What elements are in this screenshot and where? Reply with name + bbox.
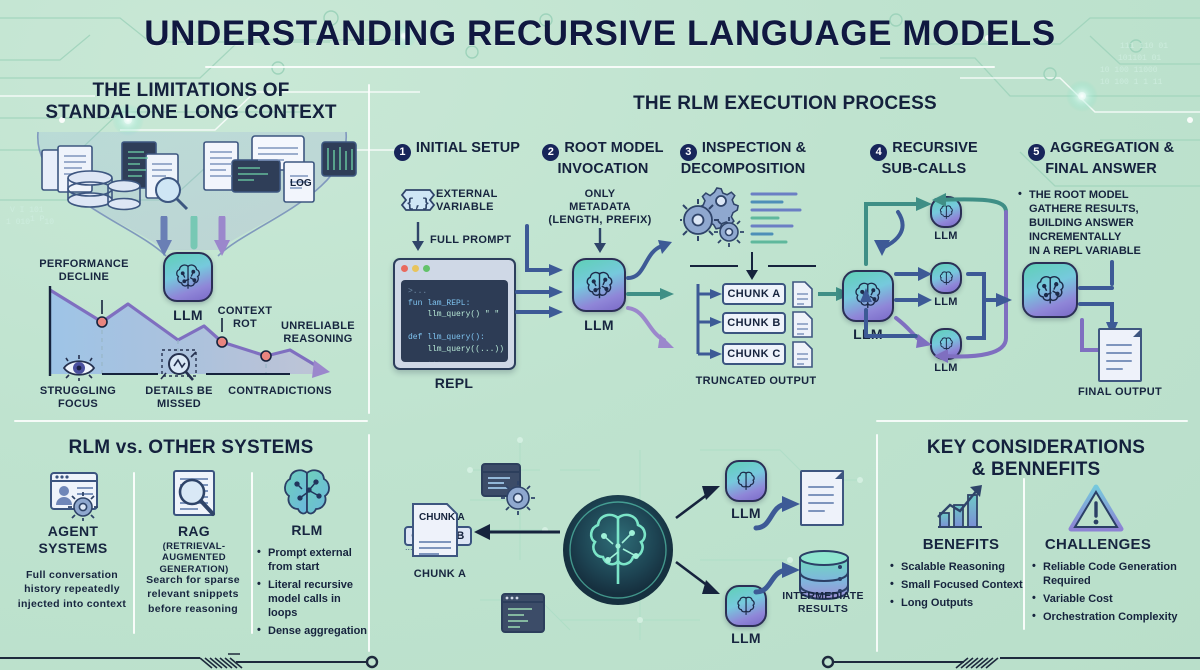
aggregation-bullet-4: INCREMENTALLY bbox=[1018, 230, 1190, 244]
svg-text:{,}: {,} bbox=[406, 196, 429, 211]
axis-label-details-missed: DETAILS BE MISSED bbox=[133, 385, 225, 411]
chunk-c-box: CHUNK C bbox=[722, 343, 786, 365]
terminal-icon-bottom bbox=[498, 590, 550, 638]
axis-label-details-missed-line1: DETAILS BE bbox=[133, 385, 225, 398]
rlm-bullet-3: Dense aggregation bbox=[257, 624, 373, 638]
window-minimize-dot[interactable] bbox=[412, 265, 419, 272]
aggregation-bullet-3: BUILDING ANSWER bbox=[1018, 216, 1190, 230]
divider-vertical-left bbox=[368, 84, 370, 414]
page-title: UNDERSTANDING RECURSIVE LANGUAGE MODELS bbox=[0, 14, 1200, 54]
code-line-1: >... bbox=[408, 287, 427, 296]
limitations-title: THE LIMITATIONS OF STANDALONE LONG CONTE… bbox=[14, 80, 368, 125]
final-output-doc-icon bbox=[1098, 328, 1142, 382]
central-brain-orb-icon bbox=[558, 490, 678, 610]
external-variable-arrow bbox=[408, 222, 428, 252]
chunk-b-box: CHUNK B bbox=[722, 312, 786, 334]
step-2-number: 2 bbox=[542, 144, 559, 161]
external-variable-label-line1: EXTERNAL bbox=[436, 188, 524, 201]
divider-vertical-right-bottom bbox=[876, 434, 878, 652]
step-1-number: 1 bbox=[394, 144, 411, 161]
intermediate-results-label-line1: INTERMEDIATE bbox=[768, 590, 878, 603]
repl-code-window[interactable]: >... fun lam_REPL: llm_query() " " def l… bbox=[393, 258, 516, 370]
step-3-heading: 3INSPECTION & DECOMPOSITION bbox=[648, 140, 838, 178]
chunk-a-box: CHUNK A bbox=[722, 283, 786, 305]
metadata-label: ONLY METADATA (LENGTH, PREFIX) bbox=[540, 188, 660, 228]
comparison-rag-body: Search for sparse relevant snippets befo… bbox=[136, 573, 250, 616]
annotation-unreliable-reasoning-line1: UNRELIABLE bbox=[272, 320, 364, 333]
external-variable-label-line2: VARIABLE bbox=[436, 201, 524, 214]
step-4-number: 4 bbox=[870, 144, 887, 161]
document-magnifier-icon bbox=[168, 468, 220, 522]
benefits-heading: BENEFITS bbox=[906, 536, 1016, 554]
final-output-label: FINAL OUTPUT bbox=[1072, 386, 1168, 399]
code-line-3: llm_query() " " bbox=[408, 310, 499, 319]
step-5-number: 5 bbox=[1028, 144, 1045, 161]
axis-label-details-missed-line2: MISSED bbox=[133, 398, 225, 411]
rag-subtitle-line1: (RETRIEVAL-AUGMENTED bbox=[136, 541, 252, 564]
axis-label-struggling-focus: STRUGGLING FOCUS bbox=[28, 385, 128, 411]
aggregation-bullet-1: THE ROOT MODEL bbox=[1018, 188, 1190, 202]
bar-chart-up-icon bbox=[932, 483, 988, 533]
challenges-item-1: Reliable Code Generation Required bbox=[1032, 560, 1192, 588]
step-5-heading-line1: AGGREGATION & bbox=[1050, 140, 1174, 156]
step-3-number: 3 bbox=[680, 144, 697, 161]
axis-label-contradictions: CONTRADICTIONS bbox=[222, 385, 338, 398]
intermediate-results-label-line2: RESULTS bbox=[768, 603, 878, 616]
svg-text:10 100 1 1 11: 10 100 1 1 11 bbox=[1100, 78, 1163, 87]
benefits-item-3: Long Outputs bbox=[890, 596, 1030, 610]
metadata-arrow bbox=[590, 228, 610, 254]
metadata-label-line3: (LENGTH, PREFIX) bbox=[540, 214, 660, 227]
challenges-list: Reliable Code Generation Required Variab… bbox=[1032, 560, 1192, 628]
brain-circuit-icon bbox=[283, 466, 331, 516]
center-output-doc-icon bbox=[800, 470, 844, 526]
considerations-title-line1: KEY CONSIDERATIONS bbox=[880, 437, 1192, 459]
center-left-arrow bbox=[472, 520, 562, 544]
annotation-unreliable-reasoning: UNRELIABLE REASONING bbox=[272, 320, 364, 346]
step-3-heading-line2: DECOMPOSITION bbox=[648, 161, 838, 178]
bottom-circuit-decoration bbox=[0, 640, 1200, 670]
log-doc-label: LOG bbox=[290, 178, 312, 189]
aggregation-bullet-5: IN A REPL VARIABLE bbox=[1018, 244, 1190, 258]
root-to-decomposition-arrows bbox=[626, 236, 684, 356]
comparison-title: RLM vs. OTHER SYSTEMS bbox=[14, 437, 368, 459]
terminal-gear-icon-top bbox=[478, 460, 538, 518]
svg-text:10 100 11000: 10 100 11000 bbox=[1100, 66, 1158, 75]
rlm-bullet-2: Literal recursive model calls in loops bbox=[257, 578, 373, 620]
comparison-agent-systems-body: Full conversation history repeatedly inj… bbox=[14, 568, 130, 611]
step-4-heading-line1: RECURSIVE bbox=[892, 140, 978, 156]
center-chunk-a-top-label: CHUNK A bbox=[419, 512, 465, 523]
code-line-2: fun lam_REPL: bbox=[408, 299, 470, 308]
comparison-divider-1 bbox=[133, 472, 135, 634]
annotation-performance-decline: PERFORMANCE DECLINE bbox=[26, 258, 142, 284]
code-line-5: def llm_query(): bbox=[408, 333, 485, 342]
annotation-context-rot-line1: CONTEXT bbox=[210, 305, 280, 318]
window-maximize-dot[interactable] bbox=[423, 265, 430, 272]
annotation-performance-decline-line2: DECLINE bbox=[26, 271, 142, 284]
external-variable-label: EXTERNAL VARIABLE bbox=[436, 188, 524, 214]
infographic-root: V I 1011 0101 P10 111 110 01101101 01 10… bbox=[0, 0, 1200, 670]
eye-icon bbox=[56, 352, 102, 382]
repl-label: REPL bbox=[404, 375, 504, 392]
benefits-item-2: Small Focused Context bbox=[890, 578, 1030, 592]
repl-window-titlebar bbox=[395, 260, 514, 276]
step-4-heading-line2: SUB-CALLS bbox=[844, 161, 1004, 178]
axis-label-struggling-focus-line1: STRUGGLING bbox=[28, 385, 128, 398]
divider-horizontal-left bbox=[14, 420, 368, 422]
title-divider bbox=[205, 66, 995, 68]
code-line-6: llm_query((...)) bbox=[408, 345, 504, 354]
comparison-rlm-name: RLM bbox=[268, 522, 346, 539]
aggregation-bullets: THE ROOT MODEL GATHERE RESULTS, BUILDING… bbox=[1018, 188, 1190, 258]
intermediate-results-label: INTERMEDIATE RESULTS bbox=[768, 590, 878, 615]
full-prompt-label: FULL PROMPT bbox=[430, 234, 520, 247]
step-4-heading: 4RECURSIVE SUB-CALLS bbox=[844, 140, 1004, 178]
external-variable-icon: {,} bbox=[400, 186, 436, 220]
step-5-heading: 5AGGREGATION & FINAL ANSWER bbox=[1008, 140, 1194, 178]
annotation-context-rot: CONTEXT ROT bbox=[210, 305, 280, 331]
metadata-label-line2: METADATA bbox=[540, 201, 660, 214]
comparison-rag-subtitle: (RETRIEVAL-AUGMENTED GENERATION) bbox=[136, 541, 252, 575]
benefits-list: Scalable Reasoning Small Focused Context… bbox=[890, 560, 1030, 614]
annotation-performance-decline-line1: PERFORMANCE bbox=[26, 258, 142, 271]
aggregation-brain-icon bbox=[1022, 262, 1078, 318]
aggregation-bullet-2: GATHERE RESULTS, bbox=[1018, 202, 1190, 216]
svg-text:101101 01: 101101 01 bbox=[1118, 54, 1161, 63]
considerations-title: KEY CONSIDERATIONS & BENNEFITS bbox=[880, 437, 1192, 482]
execution-title: THE RLM EXECUTION PROCESS bbox=[380, 93, 1190, 115]
metadata-label-line1: ONLY bbox=[540, 188, 660, 201]
step-5-heading-line2: FINAL ANSWER bbox=[1008, 161, 1194, 178]
axis-label-struggling-focus-line2: FOCUS bbox=[28, 398, 128, 411]
limitations-title-line2: STANDALONE LONG CONTEXT bbox=[14, 102, 368, 124]
divider-horizontal-right bbox=[876, 420, 1188, 422]
repl-code-text: >... fun lam_REPL: llm_query() " " def l… bbox=[401, 280, 508, 362]
center-chunk-a-bottom-label: CHUNK A bbox=[402, 568, 478, 581]
browser-user-gear-icon bbox=[47, 469, 105, 521]
challenges-item-3: Orchestration Complexity bbox=[1032, 610, 1192, 624]
benefits-item-1: Scalable Reasoning bbox=[890, 560, 1030, 574]
warning-triangle-icon bbox=[1068, 483, 1124, 533]
annotation-context-rot-line2: ROT bbox=[210, 318, 280, 331]
limitations-title-line1: THE LIMITATIONS OF bbox=[14, 80, 368, 102]
recursion-loop-arrows bbox=[838, 188, 1018, 388]
challenges-item-2: Variable Cost bbox=[1032, 592, 1192, 606]
window-close-dot[interactable] bbox=[401, 265, 408, 272]
comparison-rag-name: RAG bbox=[146, 523, 242, 540]
chunk-doc-icons bbox=[790, 280, 816, 370]
root-model-brain-icon bbox=[572, 258, 626, 312]
truncated-output-label: TRUNCATED OUTPUT bbox=[686, 375, 826, 388]
svg-text:...: ... bbox=[405, 542, 413, 552]
annotation-unreliable-reasoning-line2: REASONING bbox=[272, 333, 364, 346]
challenges-heading: CHALLENGES bbox=[1040, 536, 1156, 554]
step-3-heading-line1: INSPECTION & bbox=[702, 140, 806, 156]
comparison-rlm-bullets: Prompt external from start Literal recur… bbox=[257, 546, 373, 642]
center-chunk-doc-icon: CHUNK A ... bbox=[405, 500, 481, 572]
comparison-agent-systems-name: AGENT SYSTEMS bbox=[18, 523, 128, 557]
agent-systems-name-line2: SYSTEMS bbox=[18, 540, 128, 557]
rlm-bullet-1: Prompt external from start bbox=[257, 546, 373, 574]
code-line-7: ... bbox=[408, 357, 442, 362]
step-1-heading-line1: INITIAL SETUP bbox=[416, 140, 520, 156]
agent-systems-name-line1: AGENT bbox=[18, 523, 128, 540]
magnifier-icon bbox=[158, 348, 200, 384]
inspection-gears-icon bbox=[680, 186, 810, 250]
step-1-heading: 1INITIAL SETUP bbox=[382, 140, 532, 161]
considerations-title-line2: & BENNEFITS bbox=[880, 459, 1192, 481]
